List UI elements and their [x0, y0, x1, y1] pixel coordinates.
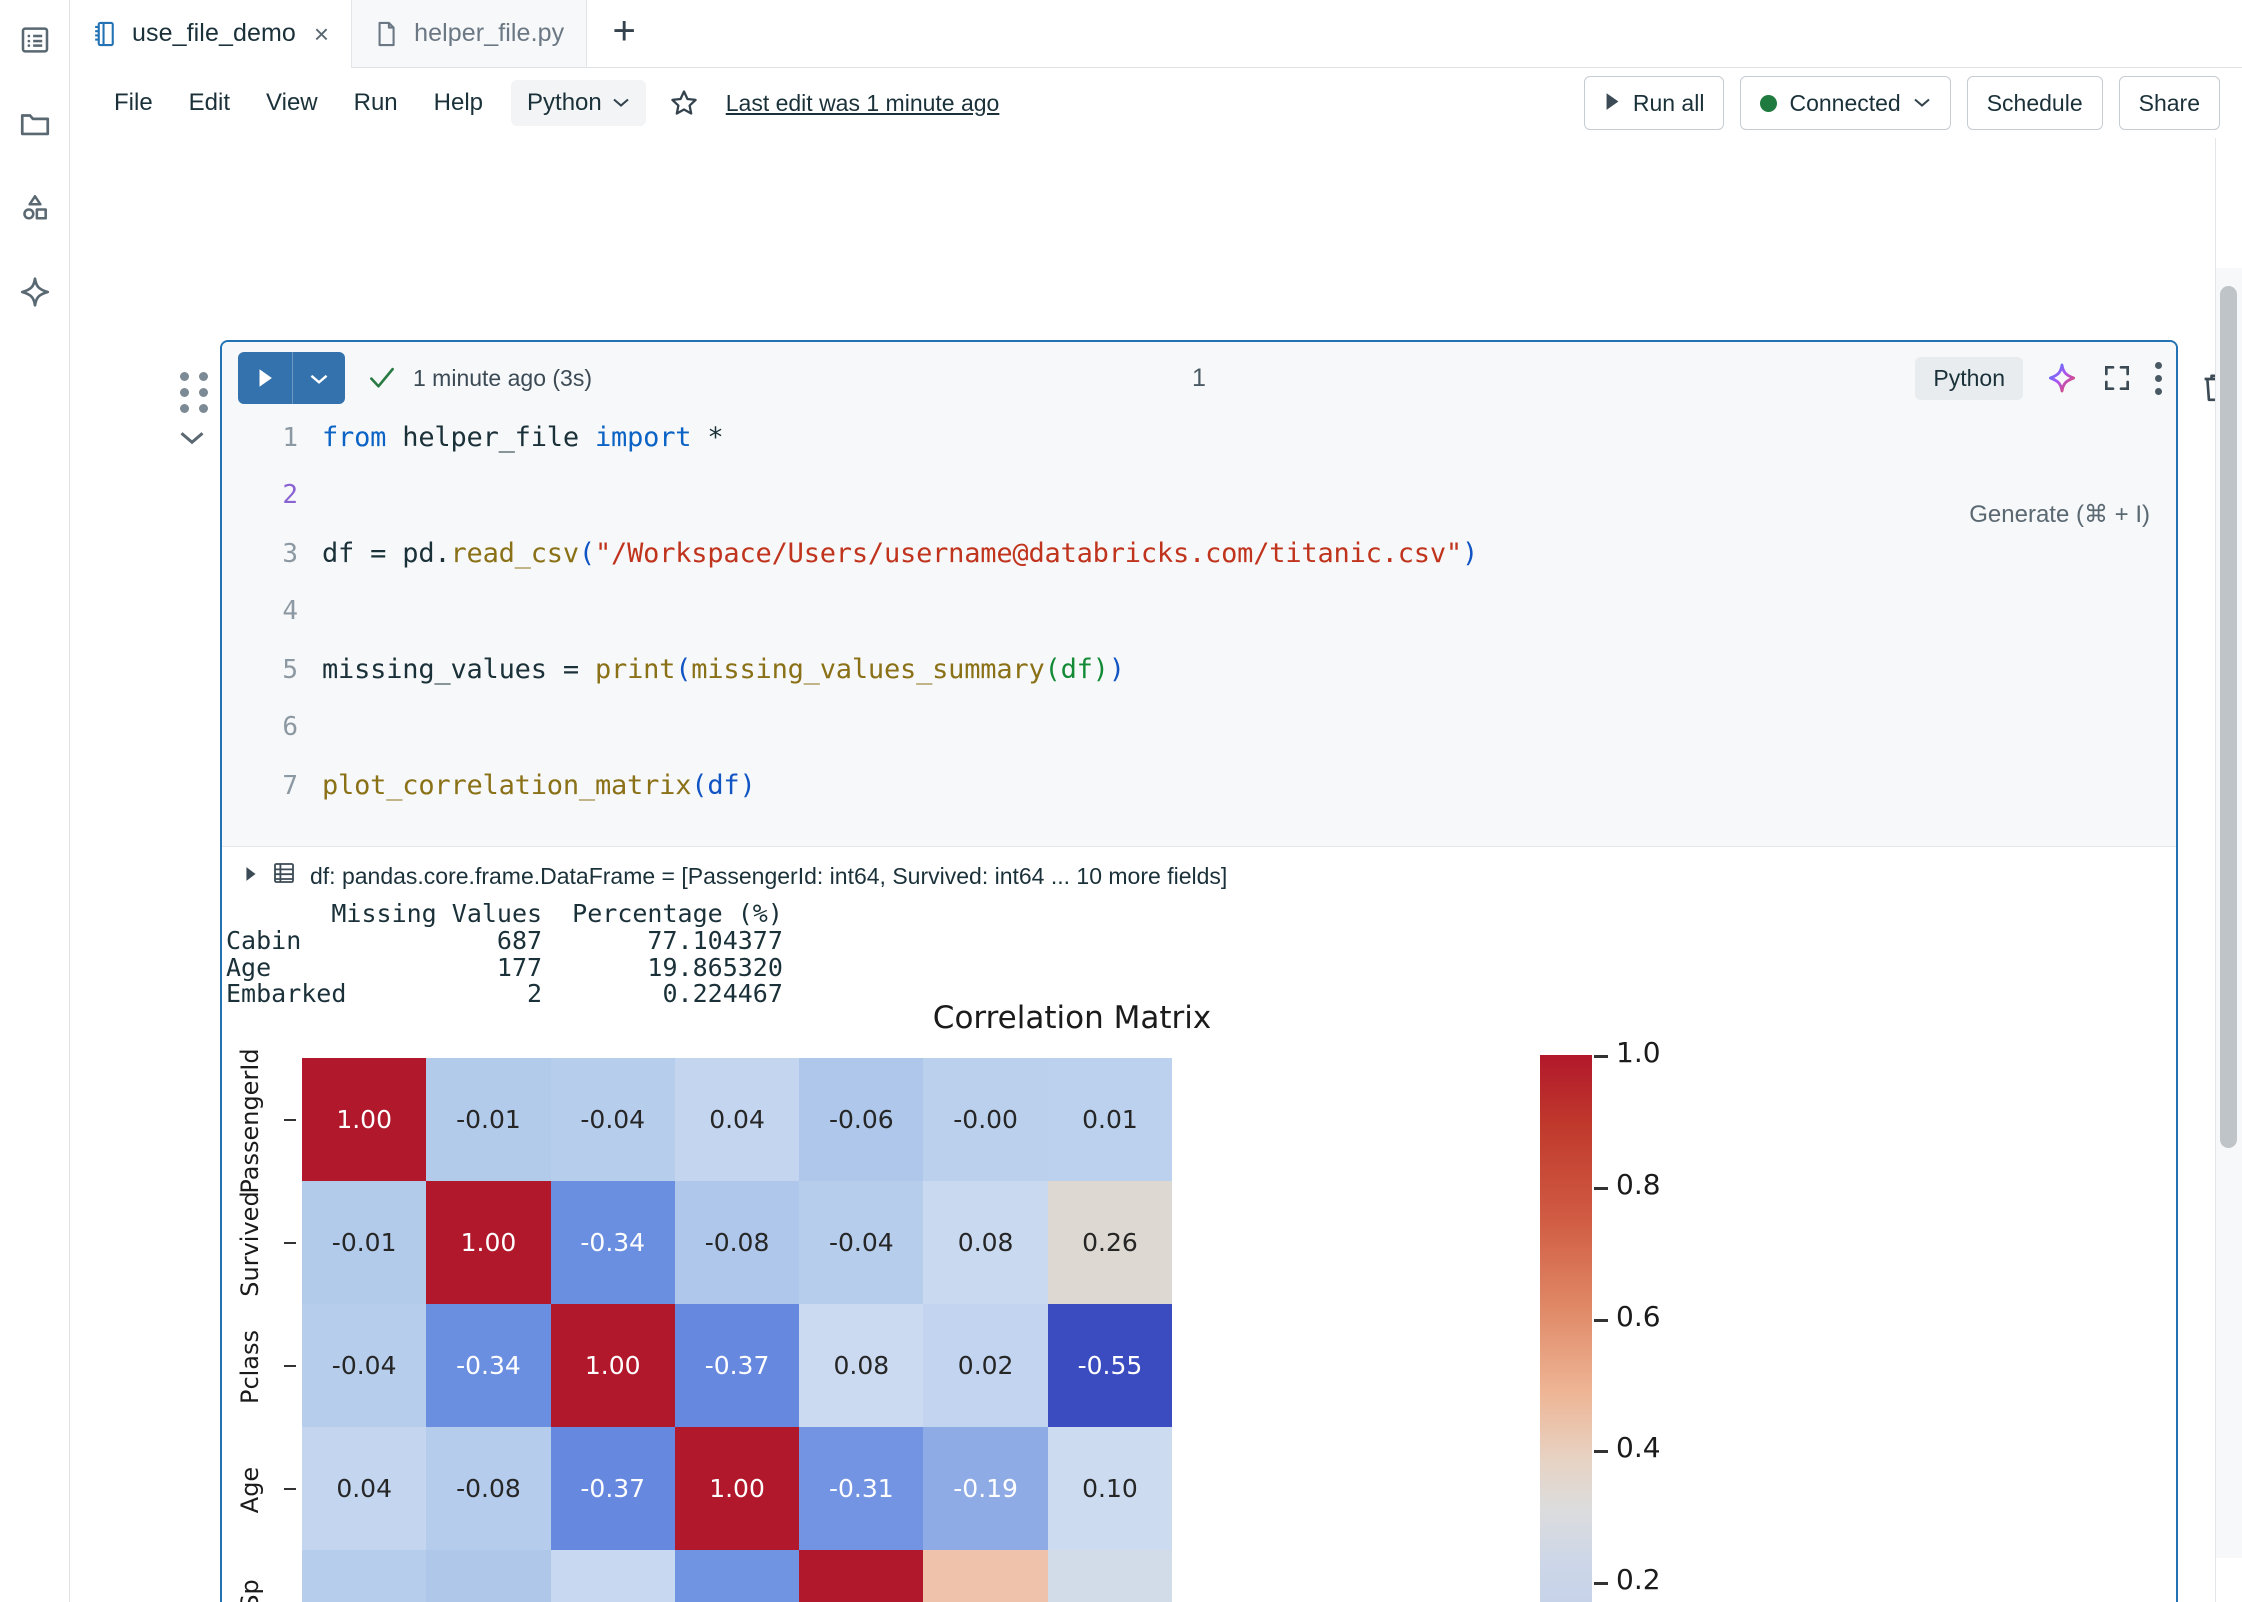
heatmap-cell: -0.37: [551, 1427, 675, 1550]
heatmap-row-tick: [284, 1119, 296, 1121]
table-icon: [272, 861, 296, 891]
code-line: 6: [222, 712, 2176, 770]
plot-title: Correlation Matrix: [452, 1000, 1692, 1036]
heatmap-cell: 0.01: [1048, 1058, 1172, 1181]
code-line: 2: [222, 480, 2176, 538]
code-line: 1 from helper_file import *: [222, 422, 2176, 480]
menu-view[interactable]: View: [248, 81, 336, 125]
file-icon: [374, 19, 400, 49]
heatmap-row-tick: [284, 1488, 296, 1490]
heatmap-cell: -0.19: [923, 1427, 1047, 1550]
heatmap-cell: -0.08: [675, 1181, 799, 1304]
heatmap-cell: [1048, 1550, 1172, 1602]
heatmap-row-tick: [284, 1365, 296, 1367]
workspace-icon[interactable]: [13, 18, 57, 62]
line-number: 6: [222, 712, 322, 742]
triangle-right-icon[interactable]: [244, 866, 258, 887]
heatmap-cell: 1.00: [551, 1304, 675, 1427]
run-all-label: Run all: [1633, 90, 1705, 117]
heatmap-row-label: SibSp: [236, 1533, 264, 1602]
play-icon: [238, 352, 292, 404]
heatmap-row-tick: [284, 1242, 296, 1244]
heatmap-cell: -0.37: [675, 1304, 799, 1427]
colorbar-tick-label: 0.2: [1616, 1563, 1661, 1596]
run-options-chevron-icon[interactable]: [293, 352, 345, 404]
notebook-body: 1 minute ago (3s) 1 Python: [70, 138, 2242, 1602]
cluster-status-button[interactable]: Connected: [1740, 76, 1950, 130]
tab-strip: use_file_demo × helper_file.py +: [70, 0, 2242, 68]
heatmap-cell: -0.31: [799, 1427, 923, 1550]
heatmap-cell: 0.10: [1048, 1427, 1172, 1550]
heatmap-cell: 0.04: [302, 1427, 426, 1550]
run-all-button[interactable]: Run all: [1584, 76, 1725, 130]
heatmap-cell: 1.00: [302, 1058, 426, 1181]
colorbar-tick: [1594, 1055, 1608, 1058]
tab-label: use_file_demo: [132, 19, 296, 48]
code-line: 5 missing_values = print(missing_values_…: [222, 654, 2176, 712]
colorbar: [1540, 1055, 1592, 1602]
line-number: 1: [222, 423, 322, 453]
last-edit-status[interactable]: Last edit was 1 minute ago: [726, 90, 1000, 117]
line-number: 5: [222, 655, 322, 685]
run-cell-button[interactable]: [238, 352, 345, 404]
kebab-icon[interactable]: [2155, 362, 2162, 395]
colorbar-tick: [1594, 1450, 1608, 1453]
code-text: missing_values = print(missing_values_su…: [322, 654, 1125, 685]
new-tab-button[interactable]: +: [587, 0, 661, 67]
folder-icon[interactable]: [13, 102, 57, 146]
tab-use-file-demo[interactable]: use_file_demo ×: [70, 0, 352, 67]
sparkle-icon[interactable]: [2045, 361, 2079, 395]
cell-number: 1: [1192, 364, 1206, 393]
dataframe-summary-row[interactable]: df: pandas.core.frame.DataFrame = [Passe…: [222, 847, 2176, 901]
colorbar-tick-label: 0.4: [1616, 1431, 1661, 1464]
heatmap-cell: 1.00: [675, 1427, 799, 1550]
heatmap-grid: 1.00-0.01-0.040.04-0.06-0.000.01-0.011.0…: [302, 1058, 1172, 1602]
heatmap-cell: [426, 1550, 550, 1602]
cell-drag-handle[interactable]: [180, 372, 209, 413]
left-sidebar-rail: [0, 0, 70, 1602]
heatmap-cell: -0.08: [426, 1427, 550, 1550]
heatmap-cell: 0.26: [1048, 1181, 1172, 1304]
heatmap-cell: -0.04: [551, 1058, 675, 1181]
colorbar-tick-label: 0.6: [1616, 1300, 1661, 1333]
heatmap-cell: 1.00: [426, 1181, 550, 1304]
line-number: 7: [222, 771, 322, 801]
line-number: 2: [222, 480, 322, 510]
heatmap-cell: 0.08: [799, 1304, 923, 1427]
heatmap-cell: [799, 1550, 923, 1602]
cell-collapse-toggle[interactable]: [178, 428, 206, 451]
schedule-button[interactable]: Schedule: [1967, 76, 2103, 130]
code-editor[interactable]: Generate (⌘ + I) 1 from helper_file impo…: [222, 414, 2176, 847]
star-icon[interactable]: [668, 87, 700, 119]
colorbar-tick-label: 1.0: [1616, 1036, 1661, 1069]
menu-file[interactable]: File: [96, 81, 171, 125]
heatmap-cell: [675, 1550, 799, 1602]
notebook-app: use_file_demo × helper_file.py + File Ed…: [0, 0, 2242, 1602]
heatmap-cell: [302, 1550, 426, 1602]
cell-output: df: pandas.core.frame.DataFrame = [Passe…: [222, 847, 2176, 1602]
heatmap-cell: [923, 1550, 1047, 1602]
heatmap-cell: -0.01: [302, 1181, 426, 1304]
status-dot-icon: [1760, 95, 1777, 112]
cell-language-pill[interactable]: Python: [1915, 357, 2023, 400]
menu-bar: File Edit View Run Help Python Last edit…: [70, 68, 2242, 138]
colorbar-tick: [1594, 1582, 1608, 1585]
heatmap-cell: -0.00: [923, 1058, 1047, 1181]
line-number: 4: [222, 596, 322, 626]
language-selector[interactable]: Python: [511, 80, 646, 126]
tab-label: helper_file.py: [414, 19, 564, 48]
menu-edit[interactable]: Edit: [171, 81, 248, 125]
dataframe-summary-text: df: pandas.core.frame.DataFrame = [Passe…: [310, 863, 1227, 890]
code-line: 3 df = pd.read_csv("/Workspace/Users/use…: [222, 538, 2176, 596]
colorbar-tick: [1594, 1187, 1608, 1190]
check-icon: [367, 365, 397, 391]
heatmap-cell: [551, 1550, 675, 1602]
heatmap-cell: 0.08: [923, 1181, 1047, 1304]
colorbar-tick-label: 0.8: [1616, 1168, 1661, 1201]
menu-help[interactable]: Help: [416, 81, 501, 125]
heatmap-cell: -0.55: [1048, 1304, 1172, 1427]
chevron-down-icon: [1913, 93, 1931, 113]
cell-run-status: 1 minute ago (3s): [413, 365, 592, 392]
language-label: Python: [527, 89, 602, 117]
code-text: from helper_file import *: [322, 422, 723, 453]
code-line: 7 plot_correlation_matrix(df): [222, 770, 2176, 828]
heatmap-cell: -0.34: [551, 1181, 675, 1304]
code-line: 4: [222, 596, 2176, 654]
colorbar-tick: [1594, 1319, 1608, 1322]
catalog-icon[interactable]: [13, 186, 57, 230]
code-text: df = pd.read_csv("/Workspace/Users/usern…: [322, 538, 1478, 569]
heatmap-cell: -0.04: [799, 1181, 923, 1304]
generate-hint: Generate (⌘ + I): [1969, 500, 2150, 529]
main-area: use_file_demo × helper_file.py + File Ed…: [70, 0, 2242, 1602]
line-number: 3: [222, 539, 322, 569]
play-icon: [1604, 90, 1621, 117]
heatmap-cell: 0.02: [923, 1304, 1047, 1427]
close-icon[interactable]: ×: [314, 21, 329, 47]
correlation-matrix-plot: Correlation Matrix 1.00-0.01-0.040.04-0.…: [222, 1018, 2176, 1602]
menu-run[interactable]: Run: [336, 81, 416, 125]
colorbar-gradient: [1540, 1055, 1592, 1602]
notebook-icon: [92, 19, 118, 49]
cell-toolbar: 1 minute ago (3s) 1 Python: [222, 342, 2176, 414]
heatmap-cell: -0.34: [426, 1304, 550, 1427]
heatmap-cell: -0.06: [799, 1058, 923, 1181]
cluster-status-label: Connected: [1789, 90, 1900, 117]
heatmap-cell: -0.01: [426, 1058, 550, 1181]
assistant-sparkle-icon[interactable]: [13, 270, 57, 314]
expand-icon[interactable]: [2101, 362, 2133, 394]
tab-helper-file[interactable]: helper_file.py: [352, 0, 587, 67]
stdout-text: Missing Values Percentage (%) Cabin 687 …: [222, 901, 2176, 1008]
heatmap-cell: 0.04: [675, 1058, 799, 1181]
heatmap-cell: -0.04: [302, 1304, 426, 1427]
share-button[interactable]: Share: [2119, 76, 2220, 130]
chevron-down-icon: [612, 93, 630, 113]
vertical-scrollbar-thumb[interactable]: [2220, 286, 2237, 1148]
code-text: plot_correlation_matrix(df): [322, 770, 756, 801]
notebook-cell: 1 minute ago (3s) 1 Python: [220, 340, 2178, 1602]
